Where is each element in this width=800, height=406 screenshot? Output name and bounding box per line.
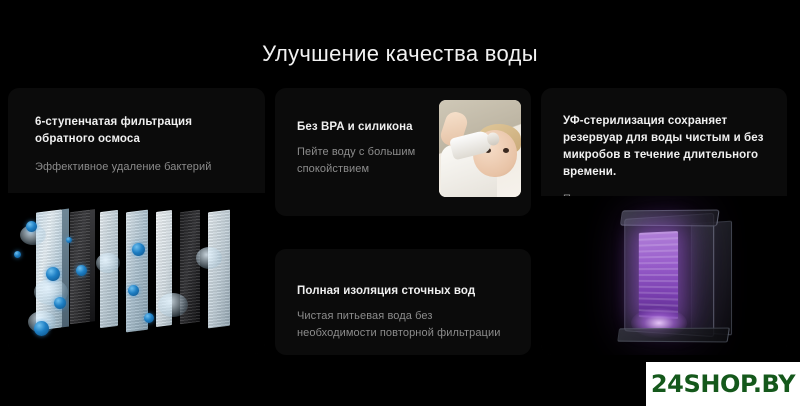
watermark-24shop: 24SHOP.BY [646,362,800,406]
card-uv-sterilization[interactable]: УФ-стерилизация сохраняет резервуар для … [541,88,787,355]
card-waste-text: Полная изоляция сточных вод Чистая питье… [275,249,531,342]
card-filtration[interactable]: 6-ступенчатая фильтрация обратного осмос… [8,88,265,354]
card-filtration-text: 6-ступенчатая фильтрация обратного осмос… [8,88,265,176]
card-waste-isolation[interactable]: Полная изоляция сточных вод Чистая питье… [275,249,531,355]
card-uv-text: УФ-стерилизация сохраняет резервуар для … [541,88,787,208]
card-filtration-title: 6-ступенчатая фильтрация обратного осмос… [35,114,243,148]
uv-sterilization-image [541,196,787,355]
card-waste-subtitle: Чистая питьевая вода без необходимости п… [297,308,513,342]
watermark-text: 24SHOP.BY [651,370,795,398]
membrane-layers-image [8,193,265,354]
card-bpa-subtitle: Пейте воду с большим спокойствием [297,144,425,178]
card-uv-title: УФ-стерилизация сохраняет резервуар для … [563,113,771,181]
card-bpa-text: Без BPA и силикона Пейте воду с большим … [275,88,425,178]
card-filtration-subtitle: Эффективное удаление бактерий [35,159,243,176]
card-bpa[interactable]: Без BPA и силикона Пейте воду с большим … [275,88,531,216]
card-bpa-title: Без BPA и силикона [297,119,425,136]
page-title: Улучшение качества воды [0,41,800,67]
baby-photo [439,100,521,197]
card-waste-title: Полная изоляция сточных вод [297,283,513,300]
